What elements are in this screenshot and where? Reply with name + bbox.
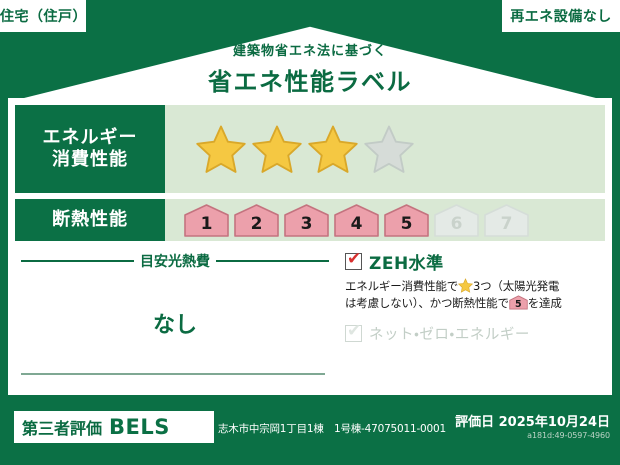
insulation-level-value: 7 bbox=[501, 214, 513, 237]
star-rating bbox=[165, 105, 605, 193]
utility-cost-value: なし bbox=[15, 307, 335, 339]
evaluation-code: a181d:49-0597-4960 bbox=[527, 431, 610, 440]
net-zero-energy-checkbox[interactable]: ✔ bbox=[345, 325, 362, 342]
property-address: 志木市中宗岡1丁目1棟 1号棟-47075011-0001 bbox=[218, 421, 446, 436]
zeh-desc-part1: エネルギー消費性能で bbox=[345, 279, 458, 293]
star-empty-icon bbox=[363, 124, 415, 174]
insulation-performance-label: 断熱性能 bbox=[15, 199, 165, 241]
insulation-level-1: 1 bbox=[183, 203, 230, 237]
insulation-level-7: 7 bbox=[483, 203, 530, 237]
utility-cost-underline bbox=[21, 373, 325, 375]
zeh-desc-star-count: 3つ（太陽光発電 bbox=[473, 279, 559, 293]
title-subtitle: 建築物省エネ法に基づく bbox=[8, 40, 612, 59]
zeh-checkbox[interactable]: ✔ bbox=[345, 253, 362, 270]
energy-label-line1: エネルギー bbox=[43, 127, 138, 150]
zeh-panel: ✔ ZEH水準 エネルギー消費性能で 3つ（太陽光発電 は考慮しない）、かつ断熱… bbox=[335, 249, 605, 387]
energy-label-line2: 消費性能 bbox=[52, 149, 128, 172]
energy-performance-label: エネルギー 消費性能 bbox=[15, 105, 165, 193]
insulation-level-value: 5 bbox=[401, 214, 413, 237]
zeh-title: ZEH水準 bbox=[369, 249, 444, 274]
label-footer: 第三者評価 BELS 志木市中宗岡1丁目1棟 1号棟-47075011-0001… bbox=[0, 399, 620, 465]
utility-cost-heading-text: 目安光熱費 bbox=[140, 251, 210, 271]
insulation-level-2: 2 bbox=[233, 203, 280, 237]
insulation-level-value: 6 bbox=[451, 214, 463, 237]
bels-badge: 第三者評価 BELS bbox=[14, 411, 214, 443]
heading-rule-left bbox=[21, 260, 134, 262]
insulation-performance-row: 断熱性能 1234567 bbox=[15, 199, 605, 241]
insulation-level-6: 6 bbox=[433, 203, 480, 237]
utility-cost-heading: 目安光熱費 bbox=[15, 249, 335, 271]
insulation-level-value: 1 bbox=[201, 214, 213, 237]
title-block: 建築物省エネ法に基づく 省エネ性能ラベル bbox=[8, 40, 612, 97]
net-zero-energy-label: ネット・ゼロ・エネルギー bbox=[369, 323, 530, 344]
inline-house-value: 5 bbox=[509, 299, 528, 310]
star-filled-icon bbox=[251, 124, 303, 174]
insulation-level-value: 2 bbox=[251, 214, 263, 237]
net-zero-energy-line: ✔ ネット・ゼロ・エネルギー bbox=[345, 323, 605, 344]
heading-rule-right bbox=[216, 260, 329, 262]
page-title: 省エネ性能ラベル bbox=[8, 62, 612, 97]
insulation-level-3: 3 bbox=[283, 203, 330, 237]
zeh-description: エネルギー消費性能で 3つ（太陽光発電 は考慮しない）、かつ断熱性能で 5 を達… bbox=[345, 278, 605, 311]
zeh-desc-part2: は考慮しない）、かつ断熱性能で bbox=[345, 296, 509, 310]
star-filled-icon bbox=[195, 124, 247, 174]
energy-performance-row: エネルギー 消費性能 bbox=[15, 105, 605, 193]
check-icon-faint: ✔ bbox=[347, 323, 361, 340]
evaluation-date: 評価日 2025年10月24日 bbox=[455, 411, 610, 430]
insulation-level-5: 5 bbox=[383, 203, 430, 237]
energy-performance-label: 住宅（住戸） 再エネ設備なし 建築物省エネ法に基づく 省エネ性能ラベル エネルギ… bbox=[0, 0, 620, 465]
zeh-check-line: ✔ ZEH水準 bbox=[345, 249, 605, 274]
insulation-level-4: 4 bbox=[333, 203, 380, 237]
zeh-desc-part3: を達成 bbox=[528, 296, 562, 310]
insulation-level-value: 4 bbox=[351, 214, 363, 237]
insulation-level-scale: 1234567 bbox=[165, 199, 605, 241]
third-party-evaluation-text: 第三者評価 bbox=[22, 415, 102, 439]
insulation-label-text: 断熱性能 bbox=[52, 209, 128, 232]
insulation-level-value: 3 bbox=[301, 214, 313, 237]
label-card: エネルギー 消費性能 断熱性能 1234567 目安光熱費 なし bbox=[8, 98, 612, 395]
inline-house-icon: 5 bbox=[509, 295, 528, 310]
check-icon: ✔ bbox=[347, 251, 361, 268]
inline-star-icon bbox=[458, 278, 473, 293]
bels-wordmark: BELS bbox=[109, 415, 170, 439]
bottom-section: 目安光熱費 なし ✔ ZEH水準 エネルギー消費性能で 3つ（太陽光発電 bbox=[15, 249, 605, 387]
roof-graphic: 建築物省エネ法に基づく 省エネ性能ラベル bbox=[8, 22, 612, 102]
star-filled-icon bbox=[307, 124, 359, 174]
utility-cost-panel: 目安光熱費 なし bbox=[15, 249, 335, 387]
